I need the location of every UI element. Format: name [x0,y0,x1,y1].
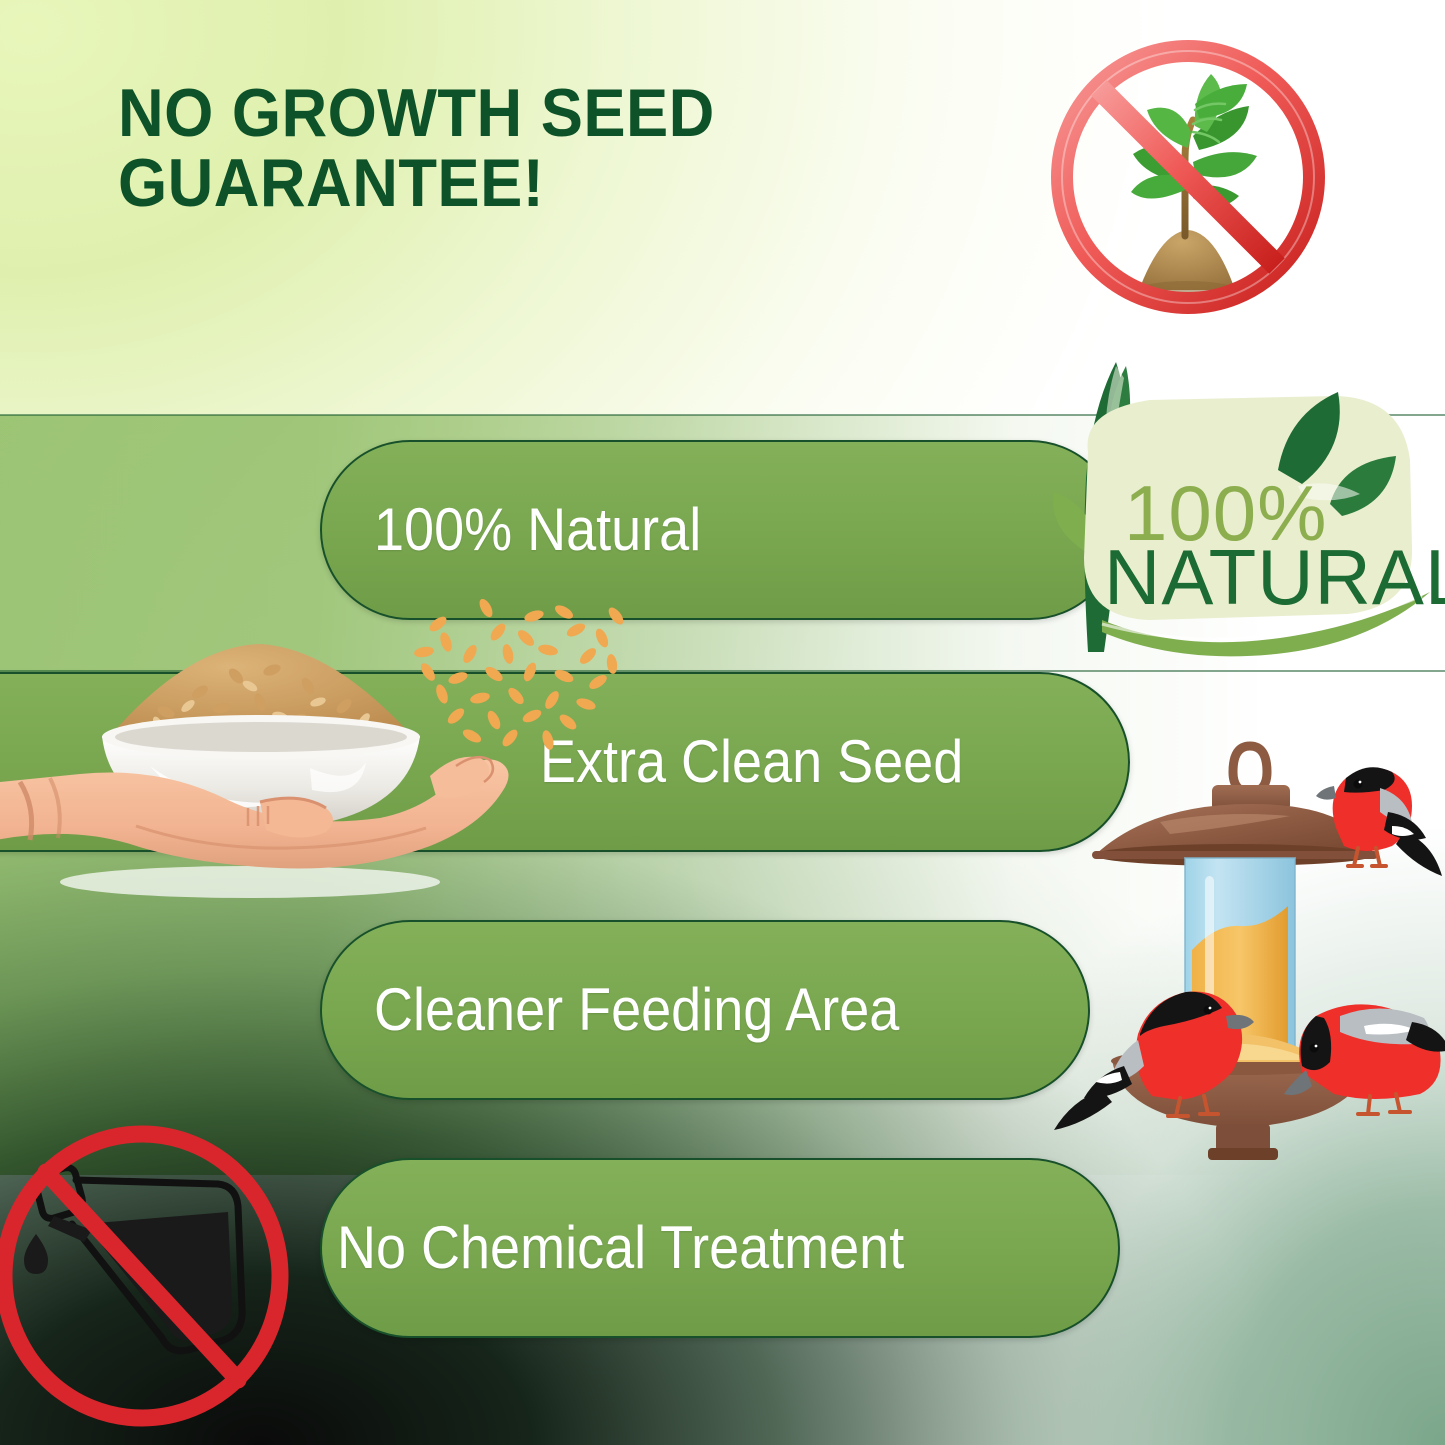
feature-pill-natural[interactable]: 100% Natural [320,440,1120,620]
100-percent-natural-badge: 100% NATURAL [1030,352,1445,652]
page-title-line-2: GUARANTEE! [118,148,936,218]
infographic-canvas: NO GROWTH SEED GUARANTEE! [0,0,1445,1445]
natural-badge-word: NATURAL [1104,533,1445,621]
feature-pill-cleaner-feeding-area[interactable]: Cleaner Feeding Area [320,920,1090,1100]
feature-label-no-chemical-treatment: No Chemical Treatment [337,1218,904,1278]
page-title: NO GROWTH SEED GUARANTEE! [118,78,936,218]
feature-label-cleaner-feeding-area: Cleaner Feeding Area [374,980,899,1040]
feature-pill-no-chemical-treatment[interactable]: No Chemical Treatment [320,1158,1120,1338]
no-chemical-flask-prohibition-icon [0,1128,292,1423]
feature-label-natural: 100% Natural [374,500,701,560]
page-title-line-1: NO GROWTH SEED [118,78,936,148]
hand-holding-bowl-of-seed [0,640,520,905]
no-plant-prohibition-icon [1043,40,1333,315]
tube-bird-feeder-with-bullfinches [1040,700,1445,1160]
